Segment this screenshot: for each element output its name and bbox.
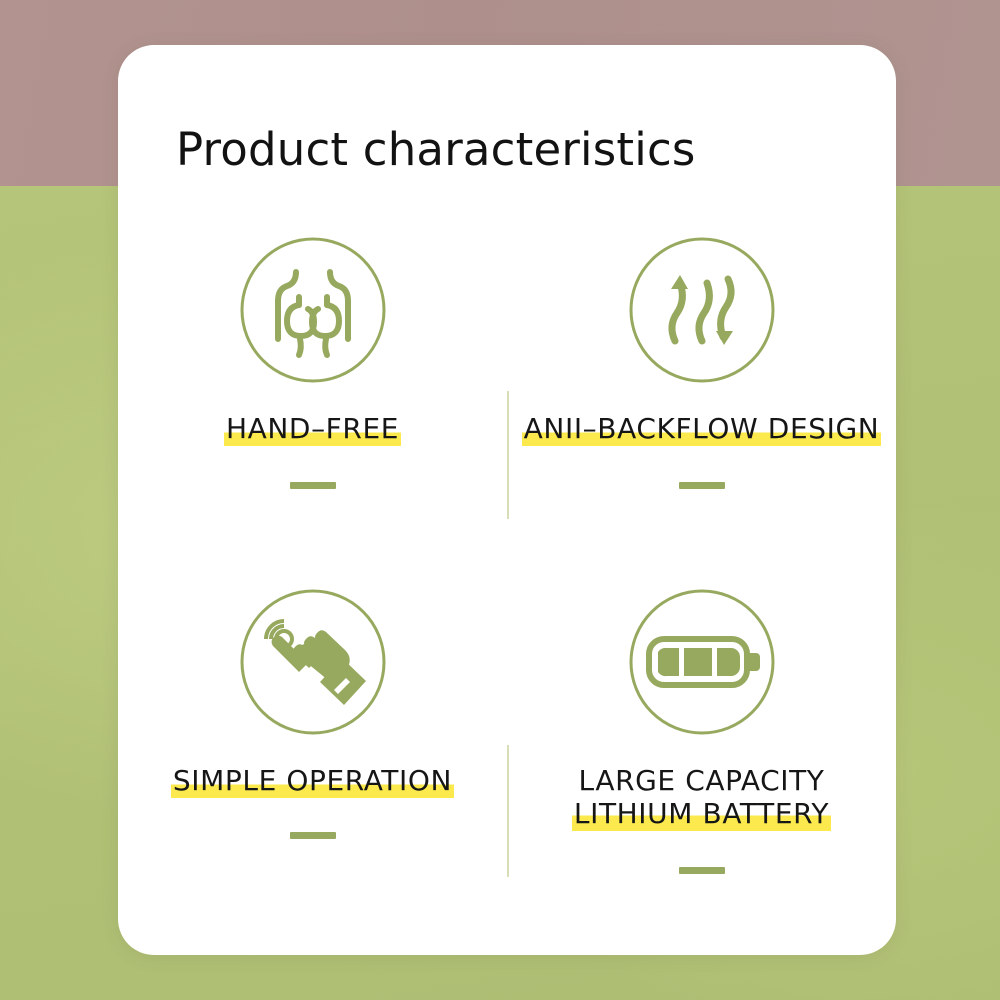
- torso-bra-hands-free-icon: [238, 235, 388, 385]
- feature-item-hand-free[interactable]: HAND–FREE: [118, 215, 507, 489]
- feature-item-large-capacity-lithium-battery[interactable]: LARGE CAPACITY LITHIUM BATTERY: [507, 567, 896, 874]
- battery-icon: [627, 587, 777, 737]
- product-characteristics-page: Product characteristics: [0, 0, 1000, 1000]
- feature-label-line1: HAND–FREE: [224, 412, 401, 446]
- tap-hand-icon: [238, 587, 388, 737]
- page-title: Product characteristics: [176, 123, 696, 176]
- feature-dash: [679, 482, 725, 489]
- feature-dash: [290, 832, 336, 839]
- feature-grid: HAND–FREE ANII–BACKFLOW DESIG: [118, 215, 896, 955]
- feature-label: LARGE CAPACITY LITHIUM BATTERY: [507, 765, 896, 831]
- feature-dash: [679, 867, 725, 874]
- feature-card: Product characteristics: [118, 45, 896, 955]
- feature-label: ANII–BACKFLOW DESIGN: [507, 413, 896, 446]
- feature-label-line1: SIMPLE OPERATION: [171, 764, 454, 798]
- feature-label: HAND–FREE: [118, 413, 507, 446]
- feature-item-anti-backflow-design[interactable]: ANII–BACKFLOW DESIGN: [507, 215, 896, 489]
- feature-label-line2: LITHIUM BATTERY: [572, 797, 831, 831]
- airflow-waves-icon: [627, 235, 777, 385]
- feature-item-simple-operation[interactable]: SIMPLE OPERATION: [118, 567, 507, 839]
- feature-label-line1: LARGE CAPACITY: [578, 764, 824, 797]
- feature-dash: [290, 482, 336, 489]
- feature-label-line1: ANII–BACKFLOW DESIGN: [522, 412, 882, 446]
- feature-label: SIMPLE OPERATION: [118, 765, 507, 798]
